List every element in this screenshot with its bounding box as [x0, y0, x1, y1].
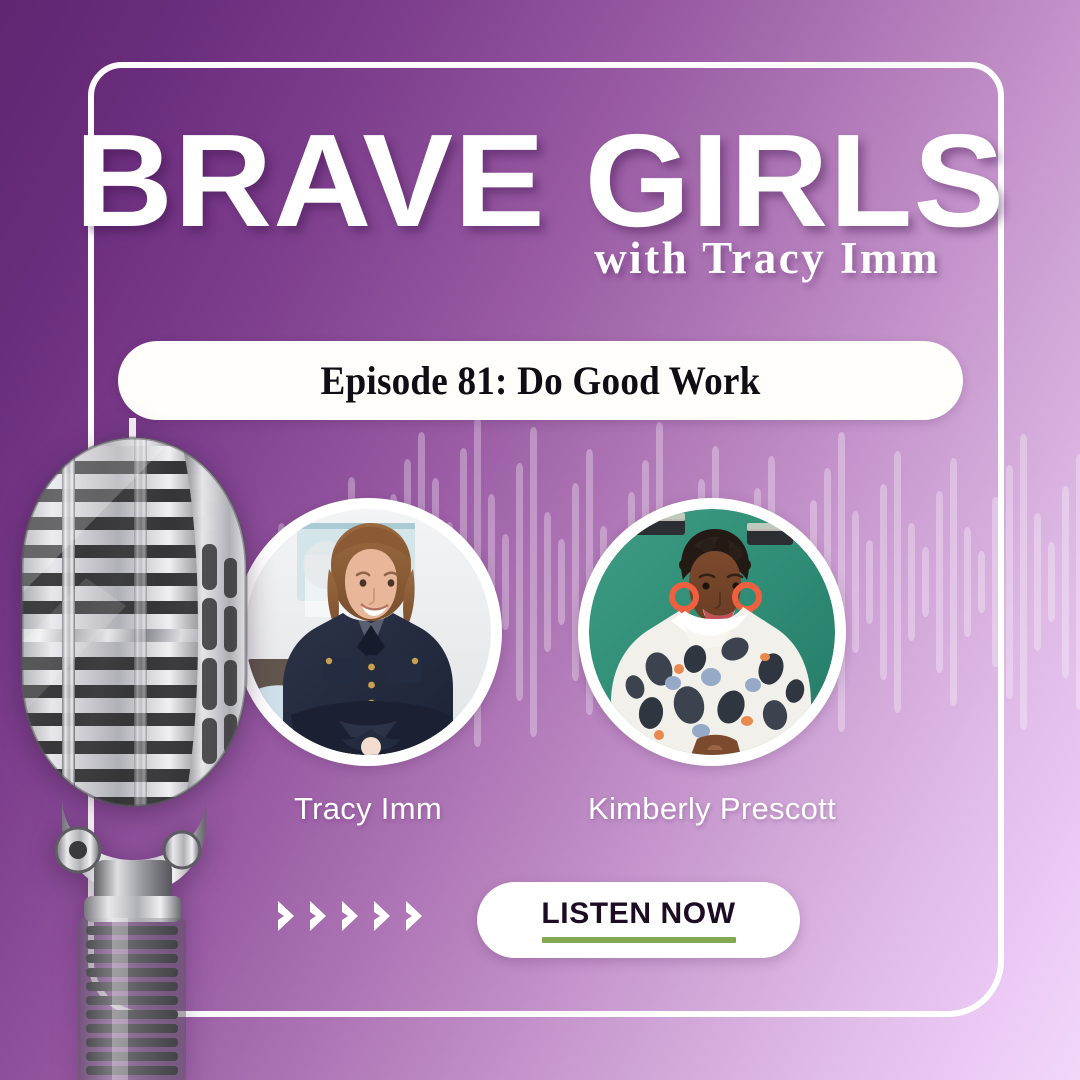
show-title: BRAVE GIRLS	[0, 118, 1080, 245]
episode-title-text: Episode 81: Do Good Work	[321, 357, 761, 404]
chevron-right-icon	[372, 898, 398, 934]
avatar	[578, 498, 846, 766]
photo-kimberly-prescott-illustration	[589, 509, 835, 755]
listen-now-label: LISTEN NOW	[541, 897, 735, 931]
host-line: with Tracy Imm	[0, 232, 1080, 284]
episode-title-pill: Episode 81: Do Good Work	[118, 341, 963, 420]
listen-now-button[interactable]: LISTEN NOW	[477, 882, 800, 958]
guest-photo-kimberly-prescott	[589, 509, 835, 755]
podcast-episode-poster: BRAVE GIRLS with Tracy Imm Episode 81: D…	[0, 0, 1080, 1080]
listen-now-underline-accent	[542, 937, 736, 943]
host-name-text: with Tracy Imm	[594, 233, 940, 283]
guest-item-kimberly-prescott: Kimberly Prescott	[578, 498, 846, 827]
chevron-right-icon	[340, 898, 366, 934]
guest-name: Kimberly Prescott	[578, 791, 846, 827]
page-title: BRAVE GIRLS	[0, 118, 1080, 245]
chevron-right-icon	[404, 898, 430, 934]
chevron-right-icon-group	[276, 898, 430, 934]
chevron-right-icon	[308, 898, 334, 934]
microphone-icon	[0, 418, 296, 1080]
